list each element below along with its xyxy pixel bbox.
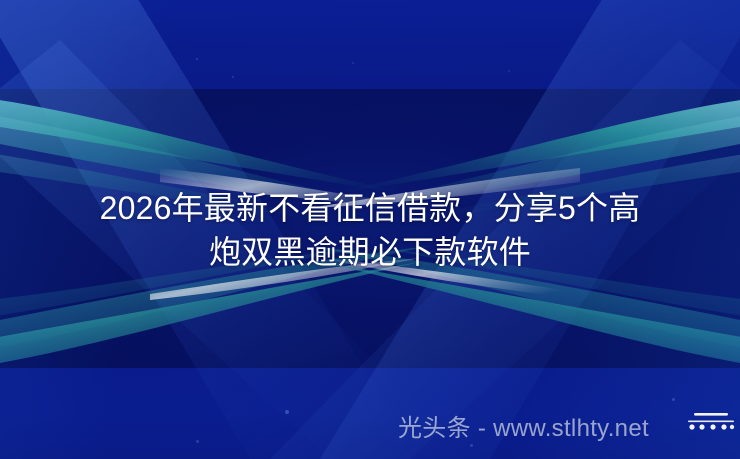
watermark-text: 光头条 - www.stlhty.net <box>398 414 649 444</box>
background-band-top <box>0 0 740 89</box>
poster-canvas: 2026年最新不看征信借款，分享5个高 炮双黑逾期必下款软件 光头条 - www… <box>0 0 740 459</box>
poster-headline: 2026年最新不看征信借款，分享5个高 炮双黑逾期必下款软件 <box>0 186 740 274</box>
